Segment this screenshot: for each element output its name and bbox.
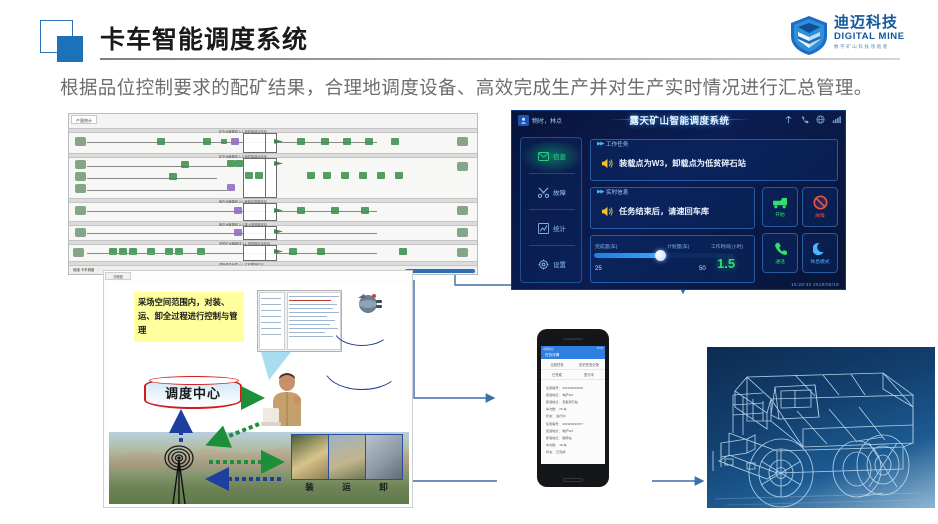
sidebar-label-info: 信息: [553, 152, 566, 161]
chevron-double-icon: ▶▶: [597, 189, 603, 195]
list-item[interactable]: 任务编号： 201908190077: [546, 421, 583, 426]
phone-carrier: 中国移动: [543, 347, 553, 351]
dashboard-user-label: 物时，林点: [532, 116, 562, 125]
shield-mine-logo-icon: [788, 14, 830, 56]
phone-speaker: [563, 338, 583, 340]
globe-icon[interactable]: [816, 115, 825, 124]
sidebar-label-stats: 统计: [553, 224, 566, 233]
list-item[interactable]: 装载地点： 电铲W3: [546, 392, 573, 397]
phone-icon[interactable]: [800, 115, 809, 124]
sidebar-item-stats[interactable]: 统计: [521, 212, 583, 245]
list-item[interactable]: 卸载地点： 破碎站: [546, 435, 572, 440]
action-call-label: 通话: [775, 258, 785, 265]
horizontal-scrollbar[interactable]: [405, 269, 475, 273]
phone-tab-3[interactable]: 已完成: [541, 371, 573, 379]
page-header: 卡车智能调度系统 迪迈科技 DIGITAL MINE 数字矿山科技领跑者: [0, 0, 938, 72]
dashboard-timestamp: 15:28:32 2019/08/19: [791, 282, 839, 287]
list-item[interactable]: 装载地点： 电铲W1: [546, 428, 573, 433]
phone-device: 中国移动 15:28 任务详情 当前任务 历史任务记录 已完成 进行中 任务编号…: [537, 329, 609, 487]
phone-tab-1[interactable]: 当前任务: [541, 361, 573, 369]
user-badge-icon: [518, 115, 529, 126]
sidebar-item-info[interactable]: 信息: [521, 140, 583, 173]
moon-icon: [813, 242, 827, 256]
task-tag: ▶▶ 工作任务: [597, 139, 628, 149]
task-tag-label: 工作任务: [606, 140, 628, 148]
arrow-to-phone: [414, 280, 494, 398]
list-item[interactable]: 任务编号： 201908190078: [546, 385, 583, 390]
chart-icon: [538, 223, 549, 234]
dispatch-diagram-panel[interactable]: 流程图 采场空间范围内，对装、运、卸全过程进行控制与管理: [103, 270, 413, 508]
task-body: 装载点为W3，卸载点为低贫碎石站: [601, 157, 746, 169]
gantt-lane: [69, 226, 478, 240]
dashboard-topbar: 物时，林点 露天矿山智能调度系统: [512, 111, 846, 133]
phone-screen[interactable]: 中国移动 15:28 任务详情 当前任务 历史任务记录 已完成 进行中 任务编号…: [541, 346, 605, 464]
phone-tab-row[interactable]: 已完成 进行中: [541, 371, 605, 380]
realtime-message-box[interactable]: ▶▶ 实时信息 任务结束后，请速回车库: [590, 187, 755, 229]
tools-icon: [538, 187, 549, 198]
sidebar-label-settings: 设置: [553, 260, 566, 269]
gantt-lane: [69, 158, 478, 198]
dashboard-status-icons: [784, 115, 841, 124]
gear-icon: [538, 259, 549, 270]
prohibited-icon: [813, 195, 828, 210]
realtime-body: 任务结束后，请速回车库: [601, 205, 709, 217]
realtime-tag: ▶▶ 实时信息: [597, 187, 628, 197]
dashboard-title-wrap: 露天矿山智能调度系统: [629, 113, 729, 127]
truck-start-icon: [772, 197, 789, 209]
sidebar-item-settings[interactable]: 设置: [521, 248, 583, 281]
action-fault-button[interactable]: 故障: [802, 187, 838, 227]
phone-nav-title: 任务详情: [545, 353, 559, 358]
page-subtitle: 根据品位控制要求的配矿结果，合理地调度设备、高效完成生产并对生产实时情况进行汇总…: [60, 74, 920, 100]
diagram-canvas: 采场空间范围内，对装、运、卸全过程进行控制与管理: [109, 282, 409, 504]
done-value: 25: [595, 266, 602, 272]
speaker-icon[interactable]: [601, 158, 613, 169]
schedule-window-tab[interactable]: 产量统计: [71, 115, 97, 124]
list-item[interactable]: 车次数： 25 车: [546, 406, 567, 411]
truck-wireframe-panel: [707, 347, 935, 508]
plan-label: 计划量(车): [667, 243, 689, 250]
phone-home-button[interactable]: [563, 478, 583, 482]
action-start-button[interactable]: 开始: [762, 187, 798, 227]
title-divider: [100, 58, 900, 60]
action-rest-label: 休息模式: [810, 258, 829, 265]
phone-tab-2[interactable]: 历史任务记录: [573, 361, 605, 369]
action-fault-label: 故障: [815, 212, 825, 219]
brand-name-cn: 迪迈科技: [834, 14, 905, 31]
gantt-lane: [69, 203, 478, 221]
chevron-double-icon: ▶▶: [597, 141, 603, 147]
hours-label: 工作时间(小时): [711, 243, 743, 250]
square-overlap-logo: [40, 20, 86, 62]
task-message-box[interactable]: ▶▶ 工作任务 装载点为W3，卸载点为低贫碎石站: [590, 139, 838, 181]
schedule-screenshot-panel[interactable]: 产量统计 矿石运输路线 1-1 电铲装载点信息 矿石运输路线 1-2 电铲装载点…: [68, 113, 478, 275]
list-item[interactable]: 状态： 已完成: [546, 449, 565, 454]
done-label: 完成量(车): [595, 243, 617, 250]
realtime-tag-label: 实时信息: [606, 188, 628, 196]
bars-signal-icon[interactable]: [832, 115, 841, 124]
list-item[interactable]: 状态： 进行中: [546, 413, 565, 418]
dashboard-title: 露天矿山智能调度系统: [629, 113, 729, 127]
list-item[interactable]: 卸载地点： 低贫碎石站: [546, 399, 578, 404]
mining-truck-wireframe: [707, 347, 935, 508]
list-item[interactable]: 车次数： 18 车: [546, 442, 567, 447]
schedule-status-text: 就绪 卡车调度: [73, 267, 94, 272]
envelope-icon: [538, 152, 549, 161]
action-start-label: 开始: [775, 211, 785, 218]
logo-filled-square: [57, 36, 83, 62]
phone-tab-4[interactable]: 进行中: [573, 371, 605, 379]
dashboard-sidebar: 信息 故障 统计 设置: [520, 137, 582, 283]
speaker-icon[interactable]: [601, 206, 613, 217]
brand-text-block: 迪迈科技 DIGITAL MINE 数字矿山科技领跑者: [834, 14, 905, 50]
phone-nav-bar: 任务详情: [541, 351, 605, 359]
diagram-flow-arrows: [109, 282, 409, 504]
plan-value: 50: [699, 266, 706, 272]
brand-name-en: DIGITAL MINE: [834, 31, 905, 43]
gantt-lane: [69, 245, 478, 261]
progress-knob[interactable]: [655, 250, 666, 261]
mobile-app-panel[interactable]: 中国移动 15:28 任务详情 当前任务 历史任务记录 已完成 进行中 任务编号…: [497, 322, 652, 494]
action-call-button[interactable]: 通话: [762, 233, 798, 273]
arrow-operator-to-site: [209, 424, 259, 444]
action-rest-button[interactable]: 休息模式: [802, 233, 838, 273]
phone-tab-row[interactable]: 当前任务 历史任务记录: [541, 361, 605, 370]
vehicle-terminal-dashboard[interactable]: 物时，林点 露天矿山智能调度系统 信息 故障 统计: [511, 110, 846, 290]
task-message-text: 装载点为W3，卸载点为低贫碎石站: [619, 157, 746, 169]
signal-tower-icon[interactable]: [784, 115, 793, 124]
hours-value: 1.5: [717, 256, 753, 271]
sidebar-item-fault[interactable]: 故障: [521, 176, 583, 209]
gantt-lane: [69, 133, 478, 153]
brand-logo: 迪迈科技 DIGITAL MINE 数字矿山科技领跑者: [788, 12, 920, 58]
dashboard-user[interactable]: 物时，林点: [518, 115, 562, 126]
progress-fill: [594, 253, 664, 258]
phone-icon: [774, 242, 787, 256]
sidebar-label-fault: 故障: [553, 188, 566, 197]
diagram-tab[interactable]: 流程图: [105, 272, 131, 280]
phone-clock: 15:28: [597, 347, 604, 350]
brand-tagline: 数字矿山科技领跑者: [834, 43, 905, 50]
stats-box: 完成量(车) 计划量(车) 工作时间(小时) 25 50 1.5: [590, 235, 755, 283]
page-title: 卡车智能调度系统: [100, 20, 308, 56]
realtime-message-text: 任务结束后，请速回车库: [619, 205, 709, 217]
